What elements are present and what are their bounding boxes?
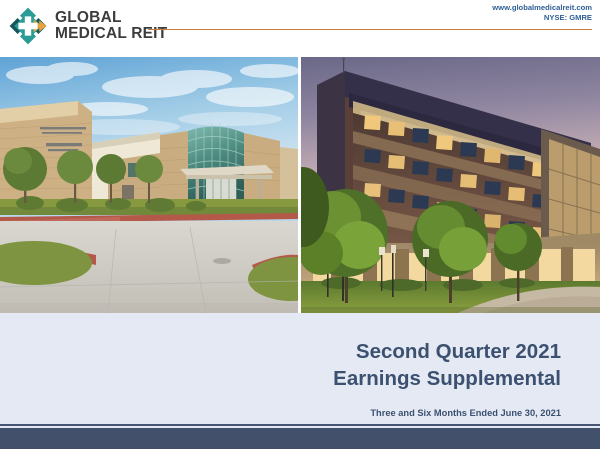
presentation-slide: GLOBAL MEDICAL REIT www.globalmedicalrei…: [0, 0, 600, 449]
company-logo: GLOBAL MEDICAL REIT: [8, 6, 167, 46]
stock-ticker-label: NYSE: GMRE: [492, 13, 592, 23]
cover-photo-band: [0, 57, 600, 319]
page-subtitle: Three and Six Months Ended June 30, 2021: [370, 408, 561, 418]
page-title: Second Quarter 2021 Earnings Supplementa…: [333, 338, 561, 393]
header-contact-info: www.globalmedicalreit.com NYSE: GMRE: [492, 3, 592, 24]
hospital-building-dusk-photo: [301, 57, 600, 316]
title-band: Second Quarter 2021 Earnings Supplementa…: [0, 313, 600, 424]
footer-bar: [0, 428, 600, 449]
medical-office-building-daytime-photo: [0, 57, 298, 313]
slide-header: GLOBAL MEDICAL REIT www.globalmedicalrei…: [0, 0, 600, 57]
logo-wordmark-line-1: GLOBAL: [55, 10, 167, 26]
page-title-line-1: Second Quarter 2021: [333, 338, 561, 365]
company-website-link[interactable]: www.globalmedicalreit.com: [492, 3, 592, 13]
header-divider-rule: [148, 29, 592, 30]
gmre-pinwheel-cross-logo-icon: [8, 6, 48, 46]
page-title-line-2: Earnings Supplemental: [333, 365, 561, 392]
logo-wordmark: GLOBAL MEDICAL REIT: [55, 10, 167, 42]
